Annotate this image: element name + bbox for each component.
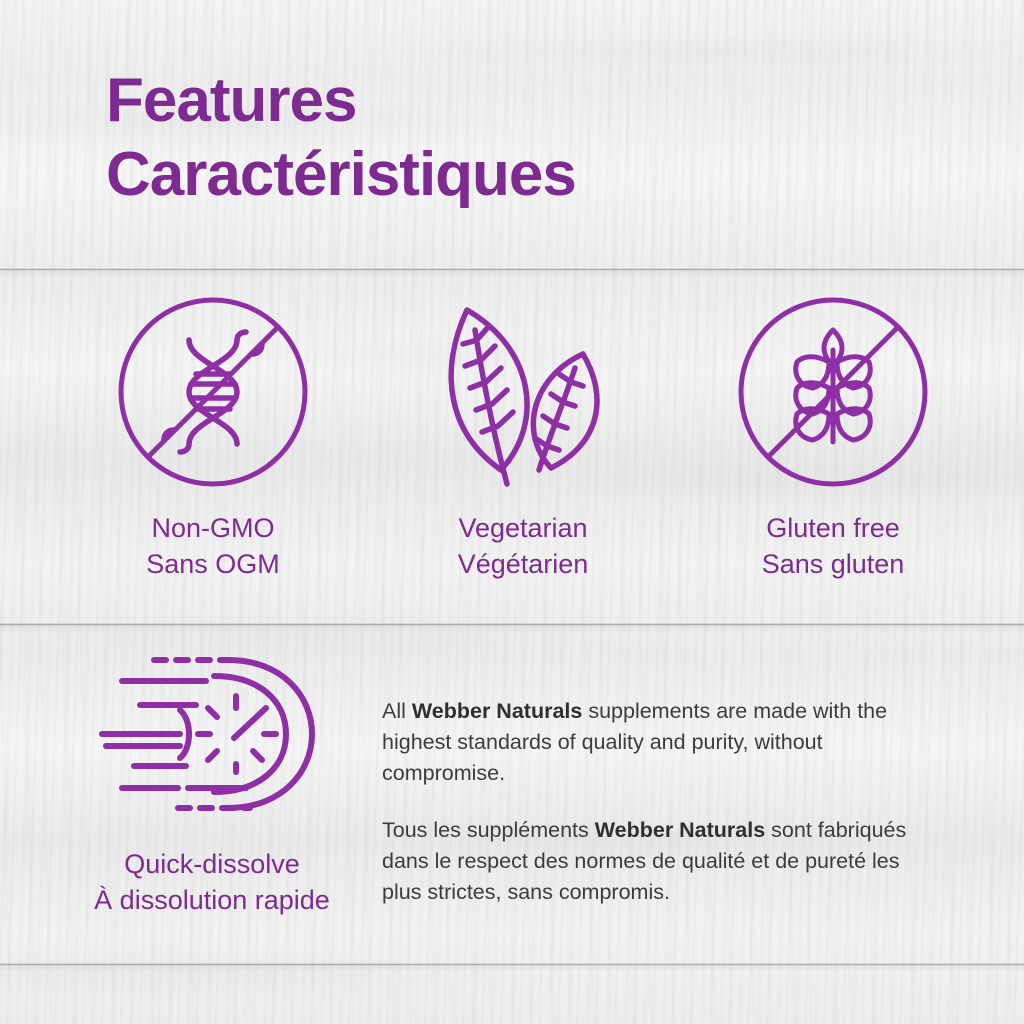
feature-row: Non-GMO Sans OGM <box>0 292 1024 582</box>
body-copy-english: All Webber Naturals supplements are made… <box>382 696 942 789</box>
title-french: Caractéristiques <box>106 138 936 212</box>
feature-label-non-gmo-fr: Sans OGM <box>146 549 280 579</box>
feature-label-vegetarian-fr: Végétarien <box>458 549 589 579</box>
copy-en-brand: Webber Naturals <box>412 699 582 723</box>
page-title: Features Caractéristiques <box>106 64 936 212</box>
feature-gluten-free: Gluten free Sans gluten <box>678 292 988 582</box>
feature-label-quick-dissolve-en: Quick-dissolve <box>124 849 300 879</box>
feature-label-non-gmo: Non-GMO Sans OGM <box>146 510 280 582</box>
feature-label-vegetarian-en: Vegetarian <box>458 513 587 543</box>
feature-label-gluten-free: Gluten free Sans gluten <box>762 510 905 582</box>
vegetarian-leaves-icon <box>423 292 623 492</box>
feature-label-vegetarian: Vegetarian Végétarien <box>458 510 589 582</box>
feature-label-quick-dissolve: Quick-dissolve À dissolution rapide <box>94 846 330 918</box>
copy-fr-brand: Webber Naturals <box>595 818 765 842</box>
copy-fr-before-brand: Tous les suppléments <box>382 818 595 842</box>
no-gmo-dna-icon <box>113 292 313 492</box>
title-english: Features <box>106 64 936 138</box>
feature-non-gmo: Non-GMO Sans OGM <box>58 292 368 582</box>
feature-panel: Features Caractéristiques <box>0 0 1024 1024</box>
feature-label-non-gmo-en: Non-GMO <box>151 513 274 543</box>
feature-label-gluten-free-fr: Sans gluten <box>762 549 905 579</box>
feature-quick-dissolve: Quick-dissolve À dissolution rapide <box>42 648 382 918</box>
body-copy: All Webber Naturals supplements are made… <box>382 696 942 908</box>
copy-en-before-brand: All <box>382 699 412 723</box>
no-gluten-wheat-icon <box>733 292 933 492</box>
quick-dissolve-speed-clock-icon <box>96 648 328 820</box>
body-copy-french: Tous les suppléments Webber Naturals son… <box>382 815 942 908</box>
feature-label-quick-dissolve-fr: À dissolution rapide <box>94 885 330 915</box>
feature-label-gluten-free-en: Gluten free <box>766 513 900 543</box>
feature-vegetarian: Vegetarian Végétarien <box>368 292 678 582</box>
